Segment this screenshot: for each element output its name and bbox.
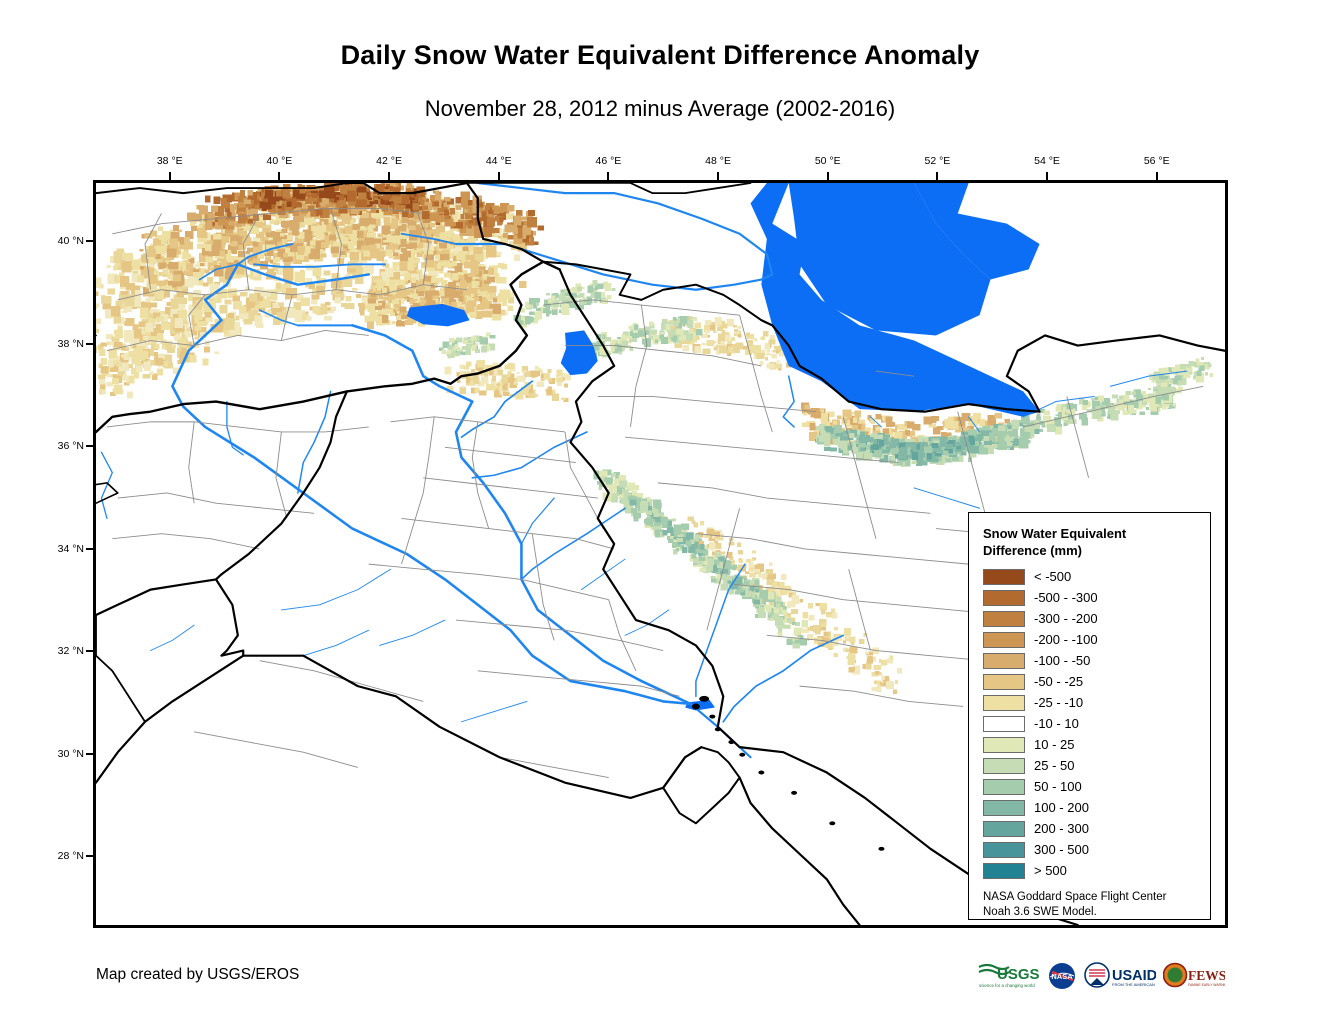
anomaly-cell — [459, 387, 466, 394]
anomaly-cell — [931, 443, 938, 448]
anomaly-cell — [205, 196, 211, 203]
anomaly-cell — [738, 558, 741, 560]
legend-label: -100 - -50 — [1034, 653, 1090, 668]
anomaly-cell — [879, 440, 884, 446]
anomaly-cell — [487, 218, 495, 227]
anomaly-cell — [668, 539, 674, 543]
anomaly-cell — [703, 348, 711, 354]
anomaly-cell — [243, 237, 252, 245]
anomaly-cell — [711, 324, 715, 328]
anomaly-cell — [147, 249, 157, 257]
anomaly-cell — [200, 263, 204, 266]
anomaly-cell — [408, 213, 413, 218]
anomaly-cell — [341, 255, 345, 258]
longitude-label: 48 °E — [705, 155, 731, 167]
anomaly-cell — [604, 284, 610, 291]
anomaly-cell — [96, 292, 99, 296]
anomaly-cell — [195, 300, 203, 309]
anomaly-cell — [109, 354, 114, 357]
anomaly-cell — [292, 201, 298, 206]
anomaly-cell — [552, 294, 556, 296]
anomaly-cell — [391, 321, 395, 324]
anomaly-cell — [1197, 362, 1203, 366]
anomaly-cell — [1171, 367, 1177, 371]
anomaly-cell — [737, 543, 741, 547]
anomaly-cell — [508, 378, 514, 383]
anomaly-cell — [530, 370, 537, 377]
anomaly-cell — [486, 245, 497, 257]
legend-row: 200 - 300 — [983, 818, 1200, 839]
anomaly-cell — [169, 239, 177, 249]
anomaly-cell — [1063, 420, 1068, 423]
anomaly-cell — [483, 287, 487, 290]
anomaly-cell — [316, 286, 325, 295]
anomaly-cell — [711, 576, 716, 579]
legend-swatch — [983, 842, 1025, 858]
anomaly-cell — [132, 357, 140, 364]
anomaly-cell — [469, 288, 478, 293]
anomaly-cell — [238, 251, 244, 257]
anomaly-cell — [287, 235, 294, 240]
anomaly-cell — [276, 282, 281, 288]
anomaly-cell — [282, 190, 290, 199]
anomaly-cell — [873, 440, 877, 444]
anomaly-cell — [182, 348, 187, 351]
admin-ir-6 — [696, 534, 969, 564]
anomaly-cell — [195, 326, 202, 331]
border-iran-turkmenistan — [1045, 335, 1225, 350]
border-iraq-saudi — [216, 579, 701, 798]
anomaly-cell — [754, 599, 760, 604]
anomaly-cell — [493, 208, 499, 214]
anomaly-cell — [1140, 412, 1145, 416]
anomaly-cell — [951, 421, 959, 429]
anomaly-cell — [1132, 392, 1136, 395]
anomaly-cell — [396, 291, 402, 296]
anomaly-cell — [546, 391, 552, 395]
anomaly-cell — [975, 441, 980, 446]
anomaly-cell — [447, 351, 451, 355]
anomaly-cell — [359, 218, 369, 226]
anomaly-cell — [196, 205, 204, 210]
longitude-label: 56 °E — [1144, 155, 1170, 167]
anomaly-cell — [459, 275, 465, 279]
anomaly-cell — [767, 364, 775, 369]
anomaly-cell — [781, 574, 786, 580]
anomaly-cell — [875, 671, 880, 674]
anomaly-cell — [456, 253, 465, 260]
karun-river — [723, 635, 843, 721]
anomaly-cell — [675, 529, 680, 532]
anomaly-cell — [194, 337, 199, 340]
anomaly-cell — [240, 292, 248, 297]
anomaly-cell — [682, 547, 687, 553]
anomaly-cell — [446, 231, 452, 238]
anomaly-cell — [1091, 398, 1095, 401]
anomaly-cell — [611, 473, 616, 477]
anomaly-cell — [792, 621, 795, 625]
anomaly-cell — [256, 324, 263, 328]
anomaly-cell — [373, 213, 381, 218]
iran-wadi-1 — [581, 559, 625, 590]
anomaly-cell — [661, 523, 667, 528]
anomaly-cell — [855, 440, 859, 445]
legend-swatch — [983, 653, 1025, 669]
anomaly-cell — [136, 366, 142, 372]
anomaly-cell — [451, 222, 456, 226]
anomaly-cell — [833, 653, 837, 657]
anomaly-cell — [503, 391, 510, 395]
admin-iq-5 — [369, 564, 609, 600]
anomaly-cell — [375, 306, 382, 310]
anomaly-cell — [461, 199, 468, 208]
mesopotamian-marshes — [685, 700, 715, 711]
anomaly-cell — [709, 542, 715, 549]
anomaly-cell — [383, 230, 387, 235]
anomaly-cell — [821, 627, 826, 631]
anomaly-cell — [1014, 439, 1019, 445]
anomaly-cell — [514, 255, 520, 261]
anomaly-cell — [865, 652, 869, 654]
anomaly-cell — [96, 306, 97, 309]
anomaly-cell — [120, 276, 129, 286]
anomaly-cell — [893, 690, 897, 694]
anomaly-cell — [213, 196, 220, 204]
anomaly-cell — [871, 687, 877, 691]
anomaly-cell — [121, 355, 125, 358]
anomaly-cell — [150, 303, 156, 308]
anomaly-cell — [372, 282, 377, 285]
anomaly-cell — [529, 298, 536, 305]
anomaly-cell — [998, 443, 1007, 450]
anomaly-cell — [400, 254, 408, 261]
anomaly-cell — [881, 660, 887, 666]
anomaly-cell — [356, 200, 360, 205]
anomaly-cell — [382, 237, 386, 239]
anomaly-cell — [348, 241, 355, 249]
anomaly-cell — [265, 190, 274, 198]
anomaly-cell — [577, 286, 582, 291]
anomaly-cell — [255, 222, 263, 227]
anomaly-cell — [399, 261, 407, 271]
anomaly-cell — [891, 429, 897, 433]
anomaly-cell — [649, 322, 653, 326]
anomaly-cell — [169, 262, 179, 270]
anomaly-cell — [725, 334, 731, 341]
anomaly-cell — [702, 343, 706, 345]
anomaly-cell — [831, 609, 835, 613]
anomaly-cell — [652, 330, 657, 335]
page-subtitle: November 28, 2012 minus Average (2002-20… — [0, 96, 1320, 122]
anomaly-cell — [989, 433, 996, 441]
anomaly-cell — [695, 323, 701, 329]
svg-text:FEWS: FEWS — [1188, 968, 1225, 983]
nasa-logo: NASA — [1047, 959, 1077, 993]
anomaly-cell — [445, 366, 452, 374]
anomaly-cell — [367, 322, 374, 330]
anomaly-cell — [402, 195, 409, 204]
anomaly-cell — [463, 340, 468, 344]
anomaly-cell — [121, 260, 131, 272]
legend-swatch — [983, 590, 1025, 606]
legend-row: -25 - -10 — [983, 692, 1200, 713]
anomaly-cell — [804, 405, 809, 409]
anomaly-cell — [160, 286, 164, 289]
anomaly-cell — [430, 213, 439, 221]
anomaly-cell — [111, 306, 120, 316]
anomaly-cell — [715, 543, 722, 549]
anomaly-cell — [1209, 373, 1212, 377]
anomaly-cell — [501, 377, 508, 384]
anomaly-cell — [159, 236, 164, 240]
anomaly-cell — [137, 275, 145, 282]
anomaly-cell — [158, 354, 165, 358]
anomaly-cell — [924, 446, 932, 453]
anomaly-cell — [759, 361, 763, 365]
anomaly-cell — [753, 569, 759, 573]
anomaly-cell — [1095, 396, 1098, 400]
anomaly-cell — [783, 607, 787, 610]
anomaly-cell — [821, 623, 825, 627]
anomaly-cell — [438, 278, 443, 283]
anomaly-cell — [398, 279, 406, 285]
anomaly-cell — [282, 221, 288, 228]
anomaly-cell — [102, 391, 106, 395]
anomaly-cell — [1064, 423, 1068, 426]
anomaly-cell — [232, 241, 237, 246]
svg-text:FAMINE EARLY WARNING SYSTEMS N: FAMINE EARLY WARNING SYSTEMS NETWORK — [1188, 983, 1225, 987]
anomaly-cell — [611, 494, 618, 502]
anomaly-cell — [1110, 413, 1118, 420]
anomaly-cell — [703, 550, 708, 555]
anomaly-cell — [157, 333, 164, 341]
anomaly-cell — [820, 621, 824, 623]
anomaly-cell — [767, 575, 773, 579]
anomaly-cell — [516, 210, 522, 216]
anomaly-cell — [1162, 405, 1166, 409]
anomaly-cell — [444, 215, 448, 219]
anomaly-cell — [368, 226, 373, 232]
anomaly-cell — [536, 308, 541, 311]
anomaly-cell — [466, 349, 471, 355]
anomaly-cell — [465, 304, 474, 313]
anomaly-cell — [669, 334, 673, 337]
anomaly-cell — [488, 210, 493, 214]
anomaly-cell — [945, 444, 953, 449]
anomaly-cell — [517, 234, 522, 238]
anomaly-cell — [853, 418, 857, 423]
anomaly-cell — [1124, 395, 1130, 402]
anomaly-cell — [791, 609, 798, 614]
anomaly-cell — [507, 373, 511, 377]
anomaly-cell — [1174, 376, 1181, 381]
anomaly-cell — [1161, 395, 1166, 399]
anomaly-cell — [886, 446, 891, 450]
anomaly-cell — [714, 560, 719, 565]
anomaly-cell — [399, 307, 406, 313]
anomaly-cell — [849, 637, 856, 643]
anomaly-cell — [132, 324, 136, 329]
anomaly-cell — [941, 432, 946, 437]
anomaly-cell — [474, 247, 483, 254]
anomaly-cell — [874, 665, 881, 670]
anomaly-cell — [385, 267, 394, 277]
anomaly-cell — [1160, 390, 1165, 394]
anomaly-cell — [886, 659, 893, 664]
anomaly-cell — [824, 426, 832, 431]
anomaly-cell — [406, 244, 413, 249]
legend-swatch — [983, 863, 1025, 879]
little-zab-river — [472, 432, 587, 478]
anomaly-cell — [720, 551, 725, 554]
anomaly-cell — [752, 345, 759, 352]
anomaly-cell — [329, 234, 336, 240]
anomaly-cell — [371, 206, 377, 213]
anomaly-cell — [1081, 418, 1088, 426]
anomaly-cell — [333, 254, 337, 258]
anomaly-cell — [215, 327, 223, 333]
anomaly-cell — [979, 446, 984, 451]
anomaly-cell — [455, 197, 461, 203]
legend-label: -10 - 10 — [1034, 716, 1079, 731]
anomaly-cell — [455, 344, 458, 347]
anomaly-cell — [247, 219, 253, 223]
anomaly-cell — [357, 231, 364, 238]
anomaly-cell — [304, 253, 308, 257]
anomaly-cell — [1122, 411, 1128, 415]
admin-iq-12 — [609, 600, 636, 671]
anomaly-cell — [496, 386, 501, 389]
anomaly-cell — [132, 261, 136, 266]
anomaly-cell — [181, 297, 187, 304]
anomaly-cell — [513, 381, 516, 383]
anomaly-cell — [546, 313, 550, 317]
anomaly-cell — [228, 313, 234, 318]
anomaly-cell — [316, 233, 324, 240]
anomaly-cell — [477, 360, 485, 367]
anomaly-cell — [191, 225, 197, 230]
anomaly-cell — [1208, 363, 1212, 367]
anomaly-cell — [502, 386, 507, 391]
anomaly-cell — [1112, 394, 1118, 398]
latitude-label: 28 °N — [44, 850, 84, 862]
anomaly-cell — [261, 237, 266, 241]
anomaly-cell — [755, 580, 760, 586]
legend-label: -25 - -10 — [1034, 695, 1083, 710]
anomaly-cell — [523, 370, 526, 372]
anomaly-cell — [794, 628, 801, 633]
anomaly-cell — [898, 452, 907, 459]
anomaly-cell — [293, 216, 298, 222]
anomaly-cell — [284, 262, 290, 270]
anomaly-cell — [587, 285, 593, 293]
anomaly-cell — [1205, 372, 1208, 376]
legend-row: 100 - 200 — [983, 797, 1200, 818]
anomaly-cell — [224, 318, 234, 330]
anomaly-cell — [642, 499, 647, 502]
anomaly-cell — [467, 225, 472, 229]
adhaim-river — [521, 498, 554, 544]
anomaly-cell — [688, 546, 695, 553]
anomaly-cell — [848, 653, 856, 663]
anomaly-cell — [445, 197, 450, 201]
anomaly-cell — [231, 250, 237, 253]
longitude-label: 38 °E — [157, 155, 183, 167]
anomaly-cell — [979, 419, 985, 426]
anomaly-cell — [113, 359, 120, 364]
anomaly-cell — [794, 639, 799, 643]
anomaly-cell — [311, 294, 319, 299]
anomaly-cell — [618, 352, 622, 355]
svg-text:USGS: USGS — [997, 966, 1040, 983]
wadi-4 — [151, 625, 195, 650]
anomaly-cell — [469, 220, 474, 223]
anomaly-cell — [809, 615, 815, 621]
anomaly-cell — [783, 625, 789, 629]
legend-swatch — [983, 800, 1025, 816]
legend-label: 50 - 100 — [1034, 779, 1082, 794]
anomaly-cell — [146, 323, 154, 332]
anomaly-cell — [723, 323, 728, 328]
anomaly-cell — [107, 374, 112, 377]
anomaly-cell — [332, 307, 336, 311]
anomaly-cell — [622, 334, 626, 337]
anomaly-cell — [755, 606, 759, 609]
anomaly-cell — [899, 448, 903, 453]
anomaly-cell — [448, 346, 453, 350]
anomaly-cell — [738, 326, 741, 329]
anomaly-cell — [122, 253, 133, 260]
anomaly-cell — [411, 250, 417, 254]
anomaly-cell — [345, 296, 350, 301]
admin-sa-3 — [500, 757, 609, 777]
anomaly-cell — [795, 622, 800, 626]
anomaly-cell — [156, 281, 165, 286]
anomaly-cell — [197, 225, 202, 228]
anomaly-cell — [897, 668, 902, 674]
anomaly-cell — [383, 297, 388, 300]
anomaly-cell — [173, 274, 181, 281]
anomaly-cell — [583, 302, 586, 304]
anomaly-cell — [769, 339, 776, 344]
anomaly-cell — [498, 370, 503, 376]
anomaly-cell — [976, 434, 983, 439]
anomaly-cell — [655, 339, 658, 343]
anomaly-cell — [184, 242, 193, 250]
anomaly-cell — [769, 586, 774, 590]
legend-row: -10 - 10 — [983, 713, 1200, 734]
anomaly-cell — [882, 428, 889, 434]
anomaly-cell — [350, 249, 355, 252]
legend-swatch — [983, 632, 1025, 648]
anomaly-cell — [1039, 429, 1042, 432]
anomaly-cell — [561, 397, 565, 400]
anomaly-cell — [774, 346, 778, 350]
anomaly-cell — [1148, 388, 1151, 390]
anomaly-cell — [248, 302, 254, 308]
anomaly-cell — [1012, 426, 1016, 429]
anomaly-cell — [377, 303, 382, 306]
anomaly-cell — [1168, 407, 1171, 409]
legend-label: -300 - -200 — [1034, 611, 1098, 626]
anomaly-cell — [158, 272, 162, 276]
anomaly-cell — [802, 612, 808, 619]
anomaly-cell — [686, 541, 692, 547]
anomaly-cell — [372, 295, 377, 298]
anomaly-cell — [619, 492, 622, 494]
anomaly-cell — [370, 202, 375, 205]
legend-swatch — [983, 695, 1025, 711]
